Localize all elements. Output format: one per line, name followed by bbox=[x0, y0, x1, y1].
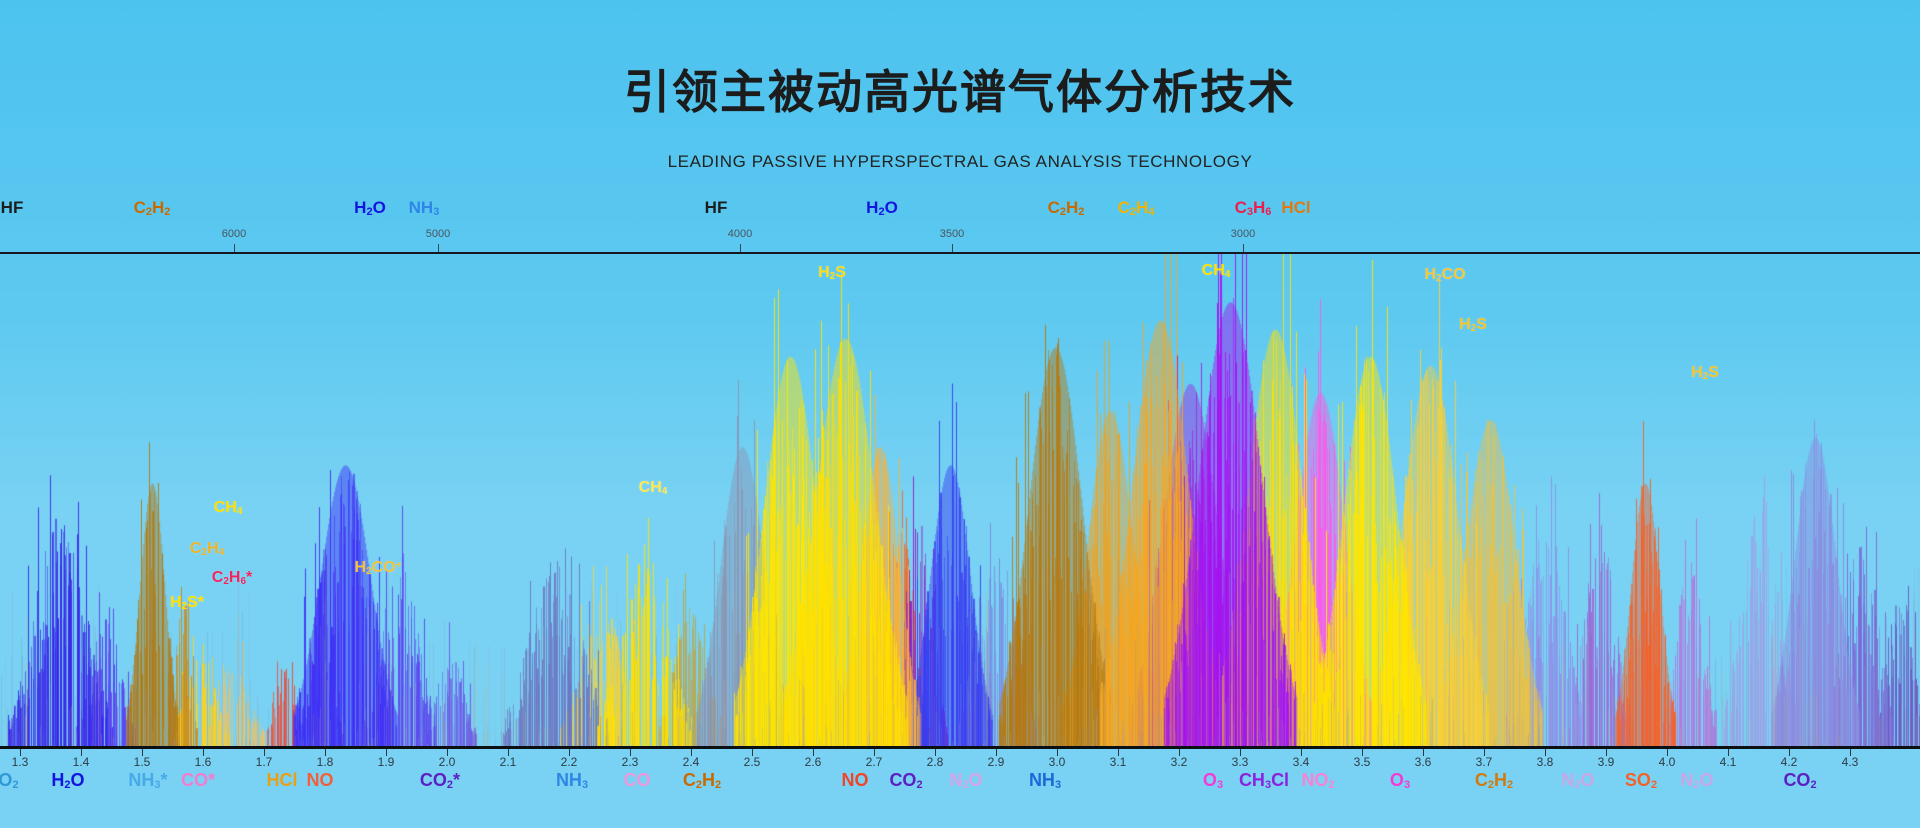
wavelength-tick-3.0: 3.0 bbox=[1049, 755, 1066, 769]
wavelength-tick-2.5: 2.5 bbox=[744, 755, 761, 769]
bottom-gas-label-row: CO2H2ONH3*CO*HClNOCO2*NH3COC2H2NOCO2N2ON… bbox=[0, 770, 1920, 810]
inner-gas-label-c2h4: C2H4 bbox=[190, 540, 224, 558]
bottom-gas-label-so2: SO2 bbox=[1625, 770, 1657, 791]
wavelength-tick-2.4: 2.4 bbox=[683, 755, 700, 769]
top-gas-label-c2h4: C2H4 bbox=[1118, 198, 1155, 218]
inner-gas-label-h2co: H2CO+ bbox=[355, 559, 402, 577]
spectrum-plot: H2SCH4H2COH2SH2SCH4CH4C2H4C2H6*H2S*H2CO+ bbox=[0, 254, 1920, 746]
wavenumber-tick-mark bbox=[234, 244, 235, 252]
wavelength-tick-2.0: 2.0 bbox=[439, 755, 456, 769]
bottom-gas-label-c2h2: C2H2 bbox=[683, 770, 721, 791]
bottom-gas-label-o3: O3 bbox=[1203, 770, 1223, 791]
top-gas-label-hf: HF bbox=[1, 198, 24, 218]
header: 引领主被动高光谱气体分析技术 LEADING PASSIVE HYPERSPEC… bbox=[0, 0, 1920, 188]
wavenumber-tick-6000: 6000 bbox=[222, 228, 246, 240]
wavelength-tick-1.6: 1.6 bbox=[195, 755, 212, 769]
bottom-gas-label-no2: NO2 bbox=[1301, 770, 1334, 791]
inner-gas-label-h2s: H2S bbox=[1459, 316, 1487, 334]
bottom-gas-label-c2h2: C2H2 bbox=[1475, 770, 1513, 791]
wavelength-tick-2.7: 2.7 bbox=[866, 755, 883, 769]
bottom-gas-label-no: NO bbox=[842, 770, 869, 791]
wavelength-tick-1.7: 1.7 bbox=[256, 755, 273, 769]
wavelength-tick-4.0: 4.0 bbox=[1659, 755, 1676, 769]
wavelength-tick-2.1: 2.1 bbox=[500, 755, 517, 769]
bottom-gas-label-nh3: NH3 bbox=[1029, 770, 1061, 791]
bottom-gas-label-co2: CO2 bbox=[0, 770, 19, 791]
wavelength-tick-3.8: 3.8 bbox=[1537, 755, 1554, 769]
bottom-gas-label-n2o: N2O bbox=[1561, 770, 1594, 791]
wavelength-tick-3.7: 3.7 bbox=[1476, 755, 1493, 769]
bottom-gas-label-co2: CO2 bbox=[1783, 770, 1816, 791]
inner-gas-label-h2s: H2S bbox=[1691, 364, 1719, 382]
wavenumber-tick-mark bbox=[740, 244, 741, 252]
page-subtitle: LEADING PASSIVE HYPERSPECTRAL GAS ANALYS… bbox=[0, 152, 1920, 172]
wavenumber-tick-mark bbox=[1243, 244, 1244, 252]
bottom-gas-label-co: CO* bbox=[181, 770, 215, 791]
wavelength-tick-4.2: 4.2 bbox=[1781, 755, 1798, 769]
bottom-gas-label-ch3cl: CH3Cl bbox=[1239, 770, 1289, 791]
wavenumber-tick-mark bbox=[952, 244, 953, 252]
wavenumber-tick-5000: 5000 bbox=[426, 228, 450, 240]
wavelength-tick-1.5: 1.5 bbox=[134, 755, 151, 769]
bottom-gas-label-nh3: NH3 bbox=[556, 770, 588, 791]
wavelength-tick-4.1: 4.1 bbox=[1720, 755, 1737, 769]
bottom-gas-label-h2o: H2O bbox=[51, 770, 84, 791]
top-gas-label-nh3: NH3 bbox=[409, 198, 440, 218]
top-gas-label-hcl: HCl bbox=[1281, 198, 1310, 218]
wavelength-tick-2.8: 2.8 bbox=[927, 755, 944, 769]
bottom-gas-label-n2o: N2O bbox=[949, 770, 982, 791]
wavenumber-tick-3500: 3500 bbox=[940, 228, 964, 240]
bottom-gas-label-n2o: N2O bbox=[1680, 770, 1713, 791]
wavelength-tick-3.4: 3.4 bbox=[1293, 755, 1310, 769]
inner-gas-label-h2co: H2CO bbox=[1424, 266, 1465, 284]
wavelength-tick-1.9: 1.9 bbox=[378, 755, 395, 769]
top-gas-label-c3h6: C3H6 bbox=[1235, 198, 1272, 218]
wavenumber-tick-3000: 3000 bbox=[1231, 228, 1255, 240]
spectrum-canvas bbox=[0, 254, 1920, 746]
top-gas-label-row: HFC2H2H2ONH3HFH2OC2H2C2H4C3H6HCl bbox=[0, 198, 1920, 232]
top-gas-label-hf: HF bbox=[705, 198, 728, 218]
wavelength-tick-2.3: 2.3 bbox=[622, 755, 639, 769]
wavelength-tick-3.9: 3.9 bbox=[1598, 755, 1615, 769]
wavelength-tick-3.3: 3.3 bbox=[1232, 755, 1249, 769]
top-gas-label-c2h2: C2H2 bbox=[134, 198, 171, 218]
wavenumber-tick-mark bbox=[438, 244, 439, 252]
inner-gas-label-ch4: CH4 bbox=[639, 479, 668, 497]
poster-root: 引领主被动高光谱气体分析技术 LEADING PASSIVE HYPERSPEC… bbox=[0, 0, 1920, 828]
wavelength-tick-2.9: 2.9 bbox=[988, 755, 1005, 769]
inner-gas-label-ch4: CH4 bbox=[214, 499, 243, 517]
bottom-gas-label-no: NO bbox=[307, 770, 334, 791]
bottom-gas-label-co2: CO2 bbox=[889, 770, 922, 791]
wavelength-tick-3.5: 3.5 bbox=[1354, 755, 1371, 769]
top-gas-label-h2o: H2O bbox=[866, 198, 898, 218]
bottom-gas-label-nh3: NH3* bbox=[128, 770, 167, 791]
bottom-gas-label-co2: CO2* bbox=[420, 770, 460, 791]
inner-gas-label-c2h6: C2H6* bbox=[212, 569, 252, 587]
top-gas-label-h2o: H2O bbox=[354, 198, 386, 218]
wavelength-tick-3.6: 3.6 bbox=[1415, 755, 1432, 769]
bottom-gas-label-o3: O3 bbox=[1390, 770, 1410, 791]
top-gas-label-c2h2: C2H2 bbox=[1048, 198, 1085, 218]
bottom-gas-label-co: CO bbox=[624, 770, 651, 791]
wavelength-tick-3.2: 3.2 bbox=[1171, 755, 1188, 769]
wavelength-tick-1.8: 1.8 bbox=[317, 755, 334, 769]
bottom-gas-label-hcl: HCl bbox=[267, 770, 298, 791]
wavelength-tick-1.4: 1.4 bbox=[73, 755, 90, 769]
wavelength-tick-3.1: 3.1 bbox=[1110, 755, 1127, 769]
wavelength-tick-2.2: 2.2 bbox=[561, 755, 578, 769]
page-title: 引领主被动高光谱气体分析技术 bbox=[0, 56, 1920, 122]
wavelength-tick-2.6: 2.6 bbox=[805, 755, 822, 769]
inner-gas-label-ch4: CH4 bbox=[1202, 262, 1231, 280]
inner-gas-label-h2s: H2S bbox=[818, 264, 846, 282]
wavenumber-tick-4000: 4000 bbox=[728, 228, 752, 240]
inner-gas-label-h2s: H2S* bbox=[170, 594, 204, 612]
wavelength-tick-4.3: 4.3 bbox=[1842, 755, 1859, 769]
wavelength-tick-1.3: 1.3 bbox=[12, 755, 29, 769]
